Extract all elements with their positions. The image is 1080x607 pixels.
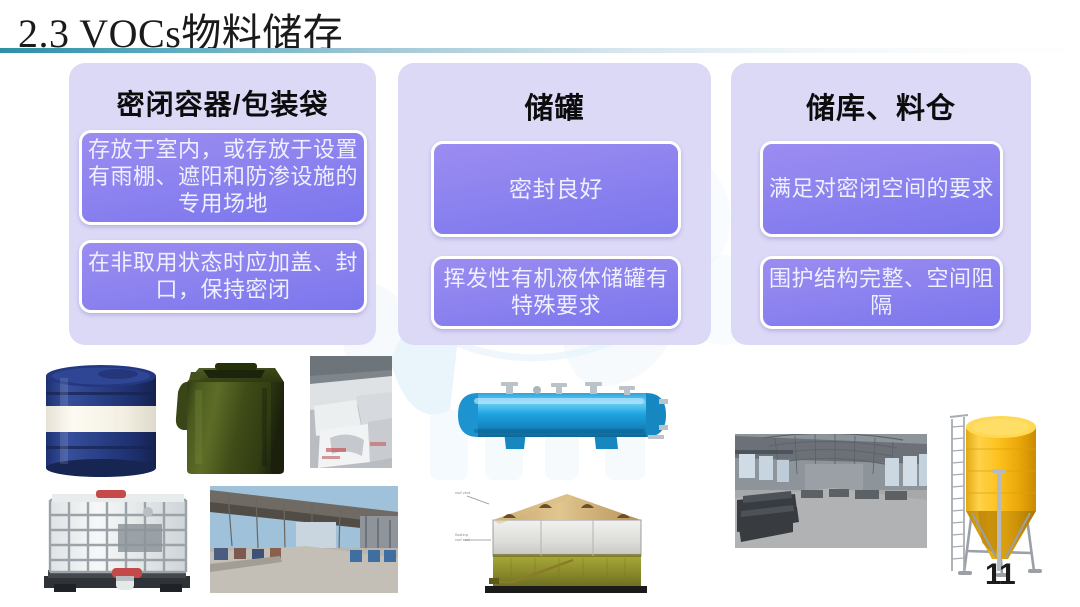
- canopy-storage-yard-photo: [210, 486, 398, 593]
- blue-steel-drum-image: [40, 362, 162, 477]
- internal-floating-roof-tank-diagram: roof vent floating roof seal: [455, 478, 667, 598]
- bullet-box: 在非取用状态时应加盖、封口，保持密闭: [79, 240, 367, 313]
- slide-canvas: 2.3 VOCs物料储存 密闭容器/包装袋 存放于室内，或存放于设置有雨棚、遮阳…: [0, 0, 1080, 607]
- ibc-tote-image: [38, 484, 198, 596]
- svg-text:roof vent: roof vent: [455, 491, 471, 495]
- bullet-box: 围护结构完整、空间阻隔: [760, 256, 1003, 329]
- page-number: 11: [985, 558, 1015, 592]
- bullet-box: 密封良好: [431, 141, 681, 237]
- bullet-box: 满足对密闭空间的要求: [760, 141, 1003, 237]
- blue-horizontal-pressure-tank-image: [452, 377, 670, 457]
- panel-storage-tanks: 储罐 密封良好 挥发性有机液体储罐有特殊要求: [398, 63, 711, 345]
- svg-text:floating: floating: [455, 533, 468, 537]
- green-jerry-can-image: [167, 358, 295, 476]
- panel-title: 密闭容器/包装袋: [69, 83, 376, 123]
- bullet-box: 挥发性有机液体储罐有特殊要求: [431, 256, 681, 329]
- warehouse-interior-photo: [735, 434, 927, 548]
- panel-title: 储库、料仓: [731, 85, 1031, 127]
- slide-header: 2.3 VOCs物料储存: [0, 0, 1080, 55]
- packaging-bags-photo: [310, 356, 392, 468]
- panel-title: 储罐: [398, 85, 711, 127]
- svg-text:roof seal: roof seal: [455, 538, 470, 542]
- panel-sealed-containers: 密闭容器/包装袋 存放于室内，或存放于设置有雨棚、遮阳和防渗设施的专用场地 在非…: [69, 63, 376, 345]
- bullet-box: 存放于室内，或存放于设置有雨棚、遮阳和防渗设施的专用场地: [79, 130, 367, 225]
- title-divider: [0, 48, 1080, 53]
- panel-warehouse-silo: 储库、料仓 满足对密闭空间的要求 围护结构完整、空间阻隔: [731, 63, 1031, 345]
